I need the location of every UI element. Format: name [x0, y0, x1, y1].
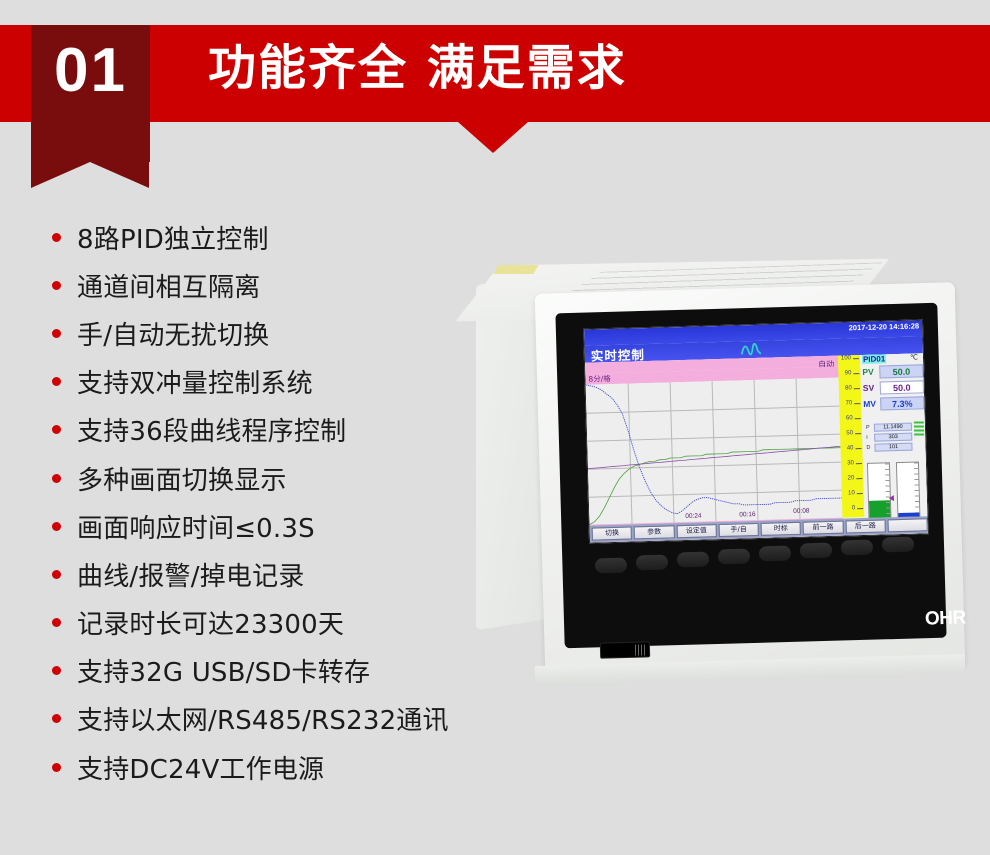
- i-param-key: I: [866, 435, 868, 441]
- feature-label: 支持以太网/RS485/RS232通讯: [77, 700, 449, 737]
- feature-label: 8路PID独立控制: [77, 219, 269, 256]
- timebase-label: 8分/格: [588, 373, 611, 385]
- x-tick-label: 00:08: [793, 508, 809, 515]
- bullet-dot-icon: [52, 233, 61, 242]
- mv-output-gauge: [867, 462, 892, 519]
- bullet-dot-icon: [52, 522, 61, 531]
- softkey-switch[interactable]: 切换: [592, 527, 633, 541]
- x-tick-label: 00:16: [739, 511, 755, 518]
- lcd-main-area: 自动 8分/格: [585, 353, 928, 543]
- hardware-button-8[interactable]: [882, 537, 914, 553]
- trend-series-group: [586, 378, 843, 525]
- list-item: 支持以太网/RS485/RS232通讯: [52, 695, 522, 743]
- status-led-bars-icon: [914, 421, 924, 437]
- mv-output-gauge-ticks: [885, 463, 891, 517]
- brand-logo: OHR: [925, 607, 966, 630]
- hardware-button-3[interactable]: [677, 552, 709, 568]
- trend-chart[interactable]: [586, 378, 843, 525]
- y-tick-label: 20: [848, 475, 855, 481]
- hardware-button-4[interactable]: [718, 549, 750, 565]
- hardware-button-7[interactable]: [841, 540, 873, 556]
- hardware-button-5[interactable]: [759, 546, 791, 562]
- valve-position-gauge: [896, 461, 921, 518]
- y-tick-label: 40: [847, 445, 854, 451]
- page-title: 功能齐全 满足需求: [208, 36, 627, 100]
- softkey-prev-channel[interactable]: 前一路: [803, 521, 844, 535]
- bullet-dot-icon: [52, 425, 61, 434]
- y-tick-label: 10: [848, 490, 855, 496]
- bullet-dot-icon: [52, 618, 61, 627]
- y-tick-label: 30: [847, 460, 854, 466]
- feature-label: 支持36段曲线程序控制: [77, 411, 346, 448]
- bullet-dot-icon: [52, 763, 61, 772]
- x-tick-label: 00:24: [685, 513, 701, 520]
- p-param-value: 11.1490: [874, 423, 912, 432]
- softkey-next-channel[interactable]: 后一路: [845, 519, 886, 533]
- y-tick-label: 90: [845, 370, 852, 376]
- y-tick-label: 0: [852, 505, 856, 511]
- softkey-timescale[interactable]: 时标: [761, 522, 802, 536]
- lcd-screen[interactable]: 2017-12-20 14:16:28 实时控制 自动 8分/格: [583, 319, 929, 543]
- recorder-device: 2017-12-20 14:16:28 实时控制 自动 8分/格: [440, 262, 990, 682]
- feature-label: 通道间相互隔离: [77, 267, 260, 304]
- y-tick-label: 60: [846, 415, 853, 421]
- bullet-dot-icon: [52, 329, 61, 338]
- i-param-value: 303: [874, 433, 912, 442]
- hardware-button-6[interactable]: [800, 543, 832, 559]
- p-param-key: P: [866, 425, 870, 431]
- wave-logo-icon: [741, 342, 763, 357]
- valve-position-gauge-ticks: [914, 462, 920, 516]
- temperature-unit-label: ℃: [910, 353, 918, 361]
- list-item: 支持DC24V工作电源: [52, 743, 522, 791]
- pid-readout-panel: PID01 ℃ PV 50.0 SV 50.0 MV 7.3%: [860, 353, 929, 537]
- y-tick-label: 70: [845, 400, 852, 406]
- feature-label: 支持DC24V工作电源: [77, 749, 324, 786]
- y-tick-label: 80: [845, 385, 852, 391]
- device-yellow-sticker: [493, 265, 538, 274]
- section-number: 01: [31, 31, 150, 111]
- softkey-blank[interactable]: [887, 518, 928, 532]
- bullet-dot-icon: [52, 714, 61, 723]
- pv-key: PV: [862, 367, 874, 377]
- usb-sd-slot-cover[interactable]: [600, 641, 650, 658]
- bullet-dot-icon: [52, 474, 61, 483]
- mv-output-gauge-marker: [889, 495, 894, 501]
- mv-value: 7.3%: [880, 396, 924, 410]
- bullet-dot-icon: [52, 281, 61, 290]
- bullet-dot-icon: [52, 377, 61, 386]
- d-param-key: D: [866, 445, 870, 451]
- feature-label: 手/自动无扰切换: [77, 315, 269, 352]
- d-param-value: 101: [874, 443, 912, 452]
- mv-key: MV: [863, 399, 876, 409]
- sv-value: 50.0: [880, 380, 924, 394]
- header-notch-triangle: [458, 122, 528, 153]
- feature-label: 支持32G USB/SD卡转存: [77, 652, 370, 689]
- feature-label: 支持双冲量控制系统: [77, 363, 313, 400]
- y-tick-label: 50: [846, 430, 853, 436]
- list-item: 8路PID独立控制: [52, 213, 522, 261]
- softkey-params[interactable]: 参数: [634, 525, 675, 539]
- sv-key: SV: [863, 383, 875, 393]
- pid-channel-label: PID01: [862, 354, 886, 364]
- hardware-button-2[interactable]: [636, 555, 668, 571]
- feature-label: 多种画面切换显示: [77, 460, 287, 497]
- feature-label: 曲线/报警/掉电记录: [77, 556, 305, 593]
- promo-page: 01 功能齐全 满足需求 8路PID独立控制 通道间相互隔离 手/自动无扰切换 …: [0, 0, 990, 855]
- hardware-button-1[interactable]: [595, 558, 627, 574]
- section-number-ribbon: 01: [31, 25, 150, 162]
- softkey-manual-auto[interactable]: 手/自: [718, 523, 759, 537]
- y-tick-label: 100: [841, 355, 851, 361]
- softkey-setpoint[interactable]: 设定值: [676, 524, 717, 538]
- pv-value: 50.0: [879, 364, 923, 378]
- feature-label: 画面响应时间≤0.3S: [77, 508, 315, 545]
- feature-label: 记录时长可达23300天: [77, 604, 344, 641]
- lcd-datetime: 2017-12-20 14:16:28: [849, 321, 920, 332]
- bullet-dot-icon: [52, 570, 61, 579]
- bullet-dot-icon: [52, 666, 61, 675]
